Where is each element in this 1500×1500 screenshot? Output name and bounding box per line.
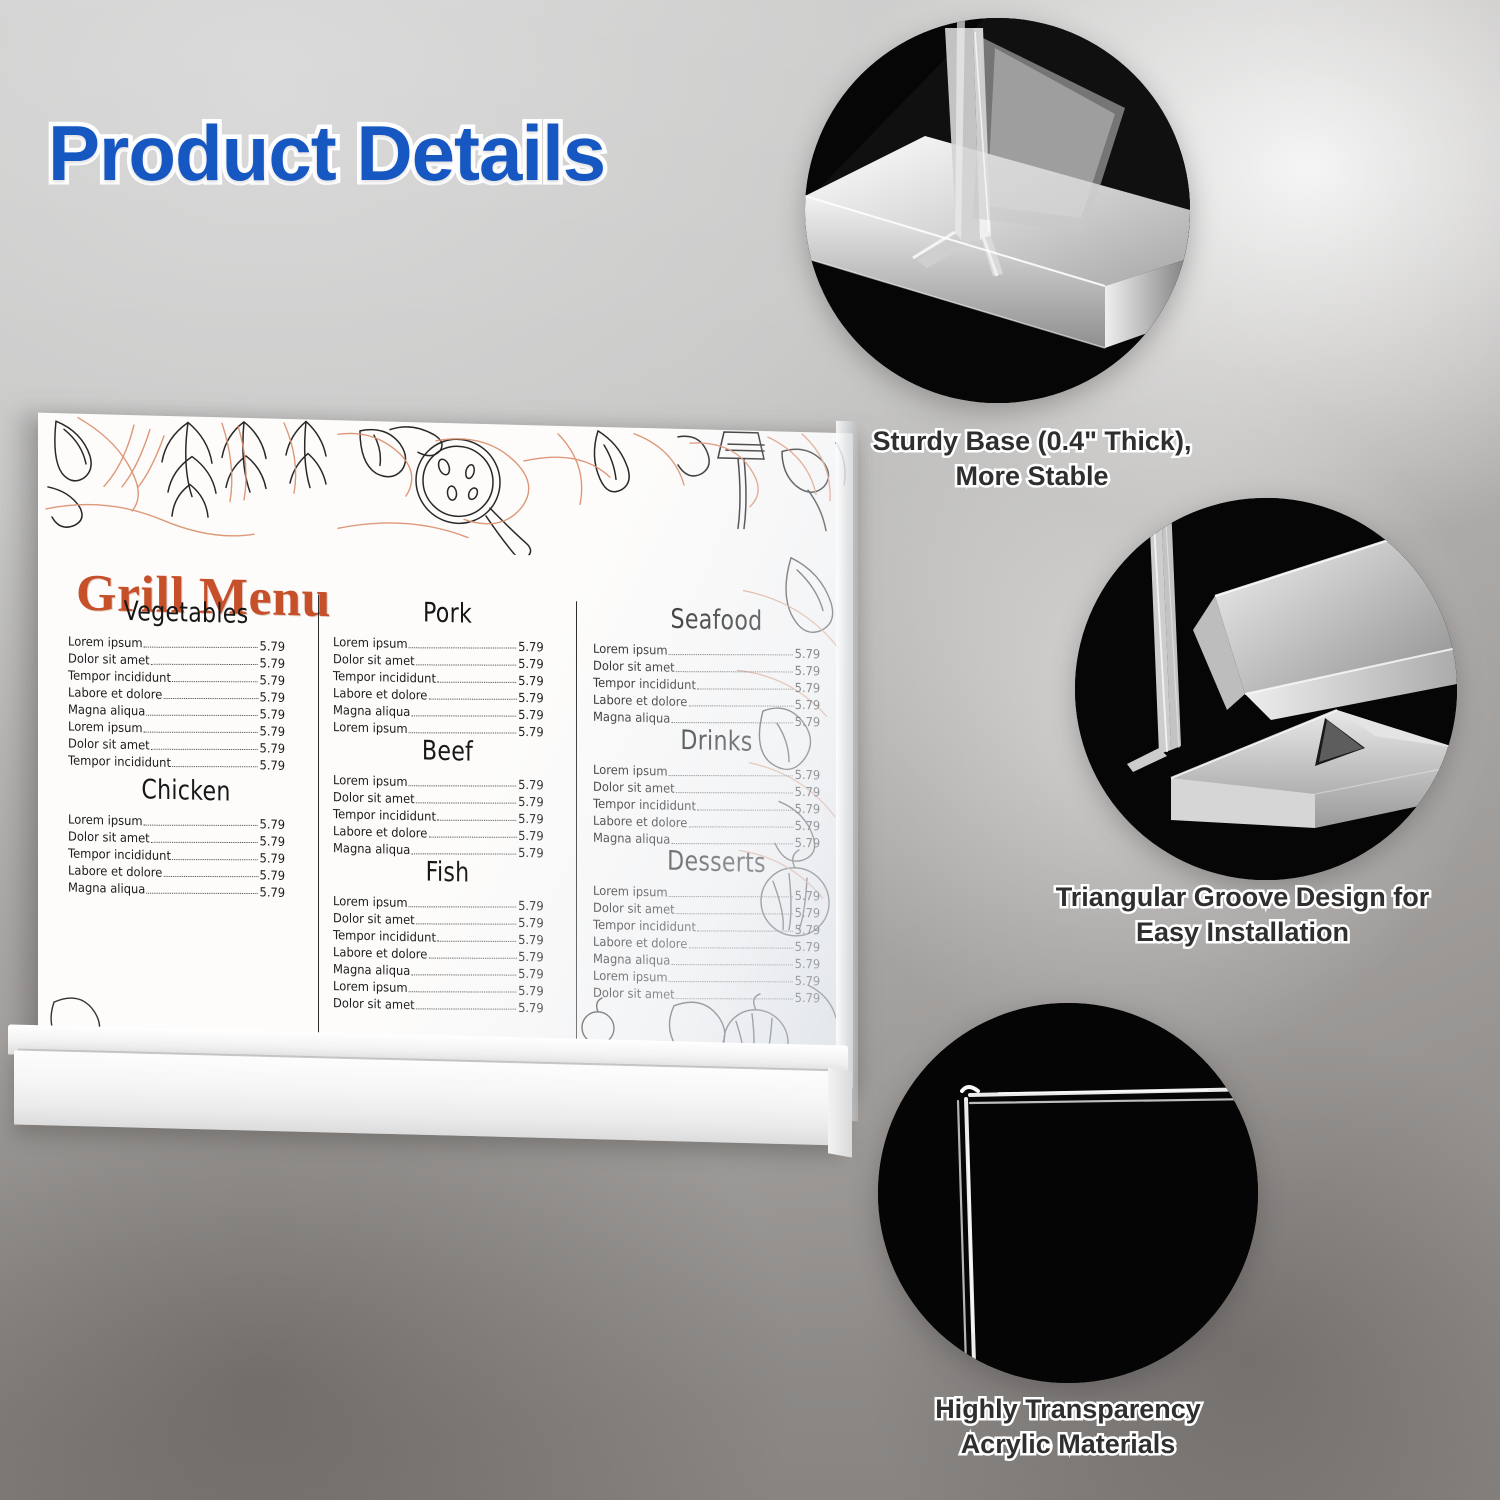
feature-photo-sturdy-base <box>805 18 1190 403</box>
caption-line-2: More Stable <box>752 459 1312 494</box>
feature-photo-triangular-groove <box>1075 498 1457 880</box>
caption-transparency: Highly Transparency Acrylic Materials <box>868 1392 1268 1461</box>
acrylic-sheen <box>38 413 853 1089</box>
feature-photo-transparency <box>878 1003 1258 1383</box>
page-title: Product Details <box>48 108 605 199</box>
menu-card: Grill Menu VegetablesLorem ipsum5.79Dolo… <box>38 413 853 1089</box>
caption-line-1: Sturdy Base (0.4" Thick), <box>752 424 1312 459</box>
product-details-image: Product Details <box>0 0 1500 1500</box>
acrylic-menu-holder: Grill Menu VegetablesLorem ipsum5.79Dolo… <box>8 415 868 1225</box>
caption-line-1: Triangular Groove Design for <box>985 880 1500 915</box>
caption-triangular-groove: Triangular Groove Design for Easy Instal… <box>985 880 1500 949</box>
acrylic-base <box>8 1024 848 1155</box>
acrylic-panel-right-edge <box>836 421 858 1122</box>
caption-line-2: Acrylic Materials <box>868 1427 1268 1462</box>
caption-line-2: Easy Installation <box>985 915 1500 950</box>
caption-sturdy-base: Sturdy Base (0.4" Thick), More Stable <box>752 424 1312 493</box>
base-right-side <box>828 1067 852 1157</box>
caption-line-1: Highly Transparency <box>868 1392 1268 1427</box>
